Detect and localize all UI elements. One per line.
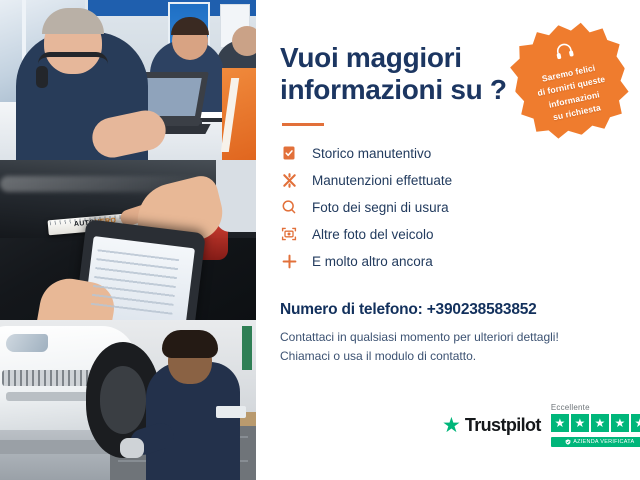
tools-cross-icon: [280, 171, 298, 189]
trustpilot-rating[interactable]: ★ Trustpilot Eccellente ★ ★ ★ ★ ★ A: [442, 403, 640, 447]
starburst-badge: Saremo felici di fornirti queste informa…: [504, 14, 637, 147]
list-item: Storico manutentivo: [280, 140, 640, 167]
plus-icon: [280, 252, 298, 270]
phone-number[interactable]: +390238583852: [427, 301, 537, 318]
photo-column: AUTOHERO: [0, 0, 256, 480]
trustpilot-score-block: Eccellente ★ ★ ★ ★ ★ AZIENDA VERIFICATA: [551, 403, 640, 447]
star-icon-half: ★: [631, 414, 640, 432]
shield-check-icon: [565, 439, 571, 445]
feature-label: Manutenzioni effettuate: [312, 173, 452, 188]
star-icon: ★: [611, 414, 629, 432]
feature-label: Storico manutentivo: [312, 146, 431, 161]
trustpilot-rating-label: Eccellente: [551, 403, 590, 412]
contact-subtext: Contattaci in qualsiasi momento per ulte…: [280, 328, 640, 365]
star-icon: ★: [591, 414, 609, 432]
list-item: E molto altro ancora: [280, 248, 640, 275]
list-item: Foto dei segni di usura: [280, 194, 640, 221]
star-icon: ★: [551, 414, 569, 432]
phone-label: Numero di telefono:: [280, 301, 423, 318]
trustpilot-logo: ★ Trustpilot: [442, 415, 541, 436]
list-item: Manutenzioni effettuate: [280, 167, 640, 194]
star-rating: ★ ★ ★ ★ ★: [551, 414, 640, 432]
contact-subtext-line-1: Contattaci in qualsiasi momento per ulte…: [280, 328, 640, 347]
photo-frame-icon: [280, 225, 298, 243]
feature-label: Foto dei segni di usura: [312, 200, 449, 215]
page-title: Vuoi maggiori informazioni su ?: [280, 42, 530, 107]
feature-label: E molto altro ancora: [312, 254, 433, 269]
trustpilot-star-icon: ★: [442, 415, 461, 436]
verified-label: AZIENDA VERIFICATA: [573, 439, 634, 445]
autohero-inspection-photo: AUTOHERO: [0, 160, 256, 320]
content-panel: Vuoi maggiori informazioni su ? Storico …: [256, 0, 640, 480]
headset-icon: [553, 41, 576, 66]
star-icon: ★: [571, 414, 589, 432]
phone-number-line: Numero di telefono: +390238583852: [280, 301, 640, 319]
workshop-tyre-check-photo: [0, 320, 256, 480]
call-center-agents-photo: [0, 0, 256, 160]
trustpilot-brand-label: Trustpilot: [465, 415, 541, 436]
headline-line-2: informazioni su ?: [280, 74, 507, 105]
list-item: Altre foto del veicolo: [280, 221, 640, 248]
magnifier-icon: [280, 198, 298, 216]
contact-info-banner: AUTOHERO Vuoi maggiori informazioni su ?: [0, 0, 640, 480]
status-badge: AZIENDA VERIFICATA: [551, 437, 640, 447]
checklist-icon: [280, 144, 298, 162]
headline-line-1: Vuoi maggiori: [280, 42, 462, 73]
title-divider: [282, 123, 324, 126]
contact-subtext-line-2: Chiamaci o usa il modulo di contatto.: [280, 347, 640, 366]
feature-label: Altre foto del veicolo: [312, 227, 434, 242]
feature-list: Storico manutentivo Manutenzioni effettu…: [280, 140, 640, 275]
